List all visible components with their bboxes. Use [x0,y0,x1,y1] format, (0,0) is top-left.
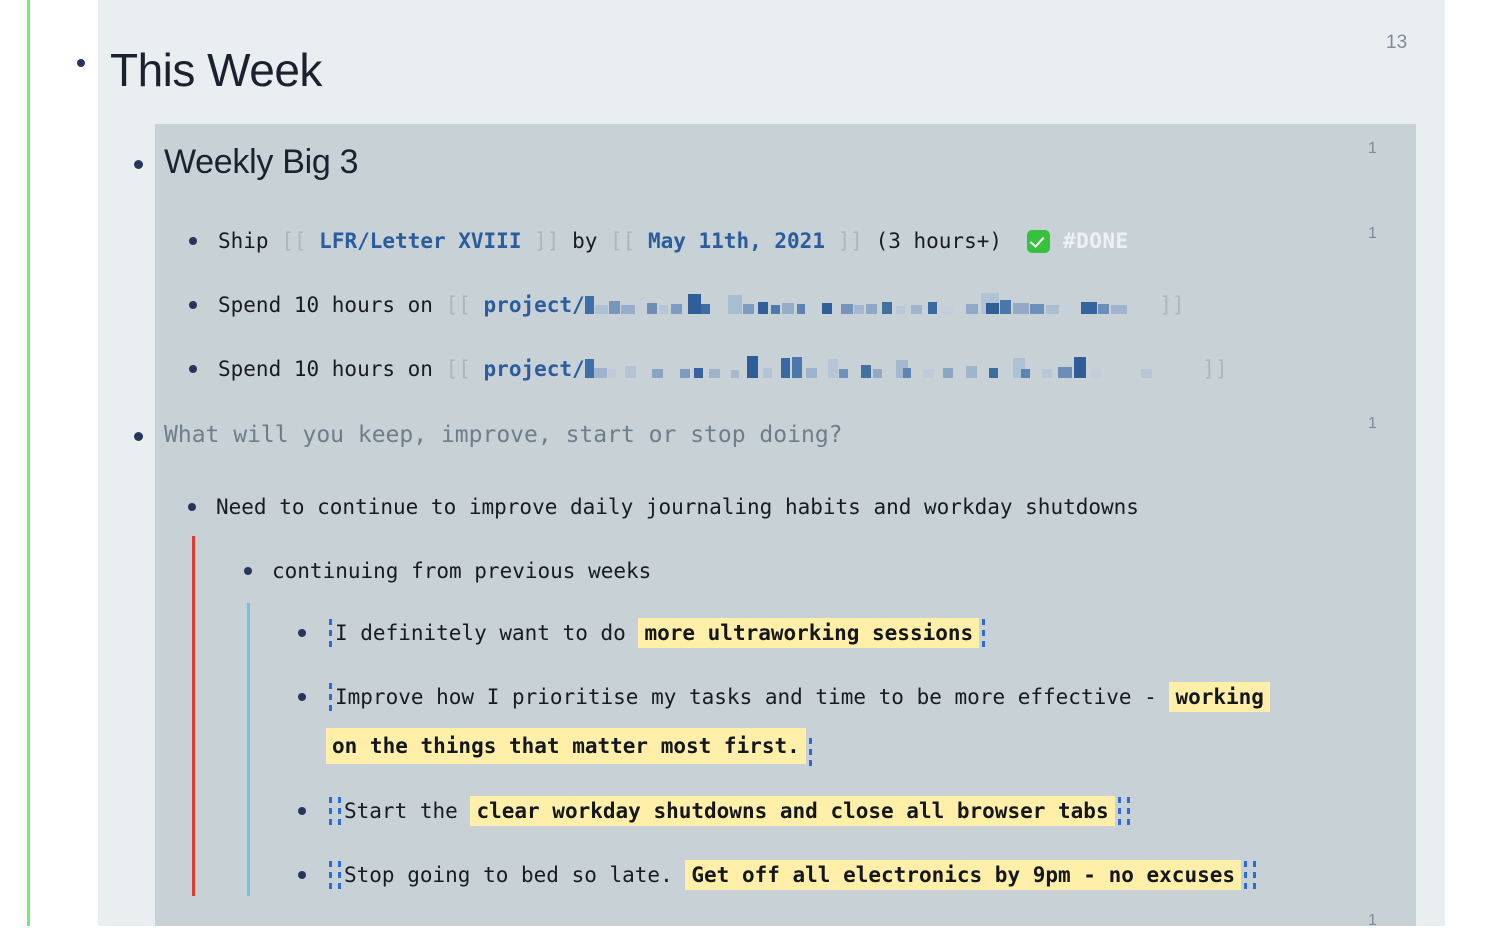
item-4-pre: Stop going to bed so late. [344,863,685,887]
block-ref-marker-icon [1244,861,1247,889]
block-row-weekly-big-3[interactable]: Weekly Big 3 [0,135,1445,197]
bullet-icon[interactable] [298,807,306,815]
bullet-icon[interactable] [189,365,197,373]
bullet-icon[interactable] [77,59,85,67]
root-block-row[interactable]: This Week [0,38,1445,108]
bracket-close: ]] [534,229,559,253]
question-text: What will you keep, improve, start or st… [164,422,843,448]
item-1-pre: I definitely want to do [335,621,638,645]
ship-suffix: (3 hours+) [863,229,1002,253]
bullet-icon[interactable] [188,503,196,511]
item-3-pre: Start the [344,799,470,823]
note-text-2: continuing from previous weeks [272,559,651,583]
block-ref-marker-icon [329,797,332,825]
page-ref-letter[interactable]: LFR/Letter XVIII [319,229,521,253]
block-ref-marker-icon [809,738,812,766]
bracket-close: ]] [1202,357,1227,381]
block-ref-marker-icon [338,861,341,889]
list-item-prioritise[interactable]: Improve how I prioritise my tasks and ti… [326,682,1386,766]
block-ref-marker-icon [329,619,332,647]
item-2-pre: Improve how I prioritise my tasks and ti… [335,685,1169,709]
ship-prefix: Ship [218,229,281,253]
block-ref-marker-icon [1253,861,1256,889]
item-1-highlight[interactable]: more ultraworking sessions [638,618,979,648]
bracket-open: [[ [446,293,471,317]
child-count-weekly-big-3: 1 [1368,140,1377,158]
bullet-icon[interactable] [134,432,143,441]
project-a-prefix: Spend 10 hours on [218,293,446,317]
list-item-electronics[interactable]: Stop going to bed so late. Get off all e… [326,860,1259,890]
block-ref-marker-icon [1118,797,1121,825]
child-count-root: 13 [1386,32,1407,54]
item-2-highlight-wrap[interactable]: on the things that matter most first. [326,728,806,764]
redacted-text-a [585,294,1147,314]
section-title-weekly-big-3: Weekly Big 3 [164,135,358,189]
bracket-open-2: [[ [610,229,635,253]
big3-item-project-b[interactable]: Spend 10 hours on [[ project/ ]] [218,354,1228,384]
bullet-icon[interactable] [189,237,197,245]
child-count-ship: 1 [1368,225,1377,243]
check-mark-icon [1027,230,1050,253]
block-ref-marker-icon [982,619,985,647]
bullet-icon[interactable] [298,629,306,637]
bullet-icon[interactable] [134,160,143,169]
bracket-close: ]] [1159,293,1184,317]
bullet-icon[interactable] [298,693,306,701]
bracket-open: [[ [281,229,306,253]
child-count-bottom: 1 [1368,912,1377,930]
note-text-1: Need to continue to improve daily journa… [216,495,1139,519]
project-b-prefix: Spend 10 hours on [218,357,446,381]
page-title: This Week [110,38,322,102]
page-ref-project-b[interactable]: project/ [484,357,585,381]
note-line-previous-weeks[interactable]: continuing from previous weeks [272,556,651,586]
item-3-highlight[interactable]: clear workday shutdowns and close all br… [470,796,1114,826]
tag-done[interactable]: #DONE [1063,229,1129,253]
block-ref-marker-icon [338,797,341,825]
list-item-workday-shutdowns[interactable]: Start the clear workday shutdowns and cl… [326,796,1133,826]
redacted-text-b [585,358,1190,378]
big3-item-project-a[interactable]: Spend 10 hours on [[ project/ [218,290,1185,320]
ship-middle: by [559,229,610,253]
big3-item-ship[interactable]: Ship [[ LFR/Letter XVIII ]] by [[ May 11… [218,226,1129,256]
bullet-icon[interactable] [244,567,252,575]
block-ref-marker-icon [1127,797,1130,825]
child-count-question: 1 [1368,415,1377,433]
guide-rail-red [192,536,195,896]
page-ref-project-a[interactable]: project/ [484,293,585,317]
item-2-highlight[interactable]: working [1169,682,1270,712]
block-ref-marker-icon [329,861,332,889]
question-line[interactable]: What will you keep, improve, start or st… [164,420,843,450]
bullet-icon[interactable] [298,871,306,879]
block-ref-marker-icon [329,683,332,711]
guide-rail-cyan [247,603,250,896]
page-ref-date[interactable]: May 11th, 2021 [648,229,825,253]
list-item-ultraworking[interactable]: I definitely want to do more ultraworkin… [326,618,988,648]
note-line-continue[interactable]: Need to continue to improve daily journa… [216,492,1139,522]
bracket-open: [[ [446,357,471,381]
bullet-icon[interactable] [189,301,197,309]
bracket-close-2: ]] [838,229,863,253]
item-4-highlight[interactable]: Get off all electronics by 9pm - no excu… [685,860,1241,890]
